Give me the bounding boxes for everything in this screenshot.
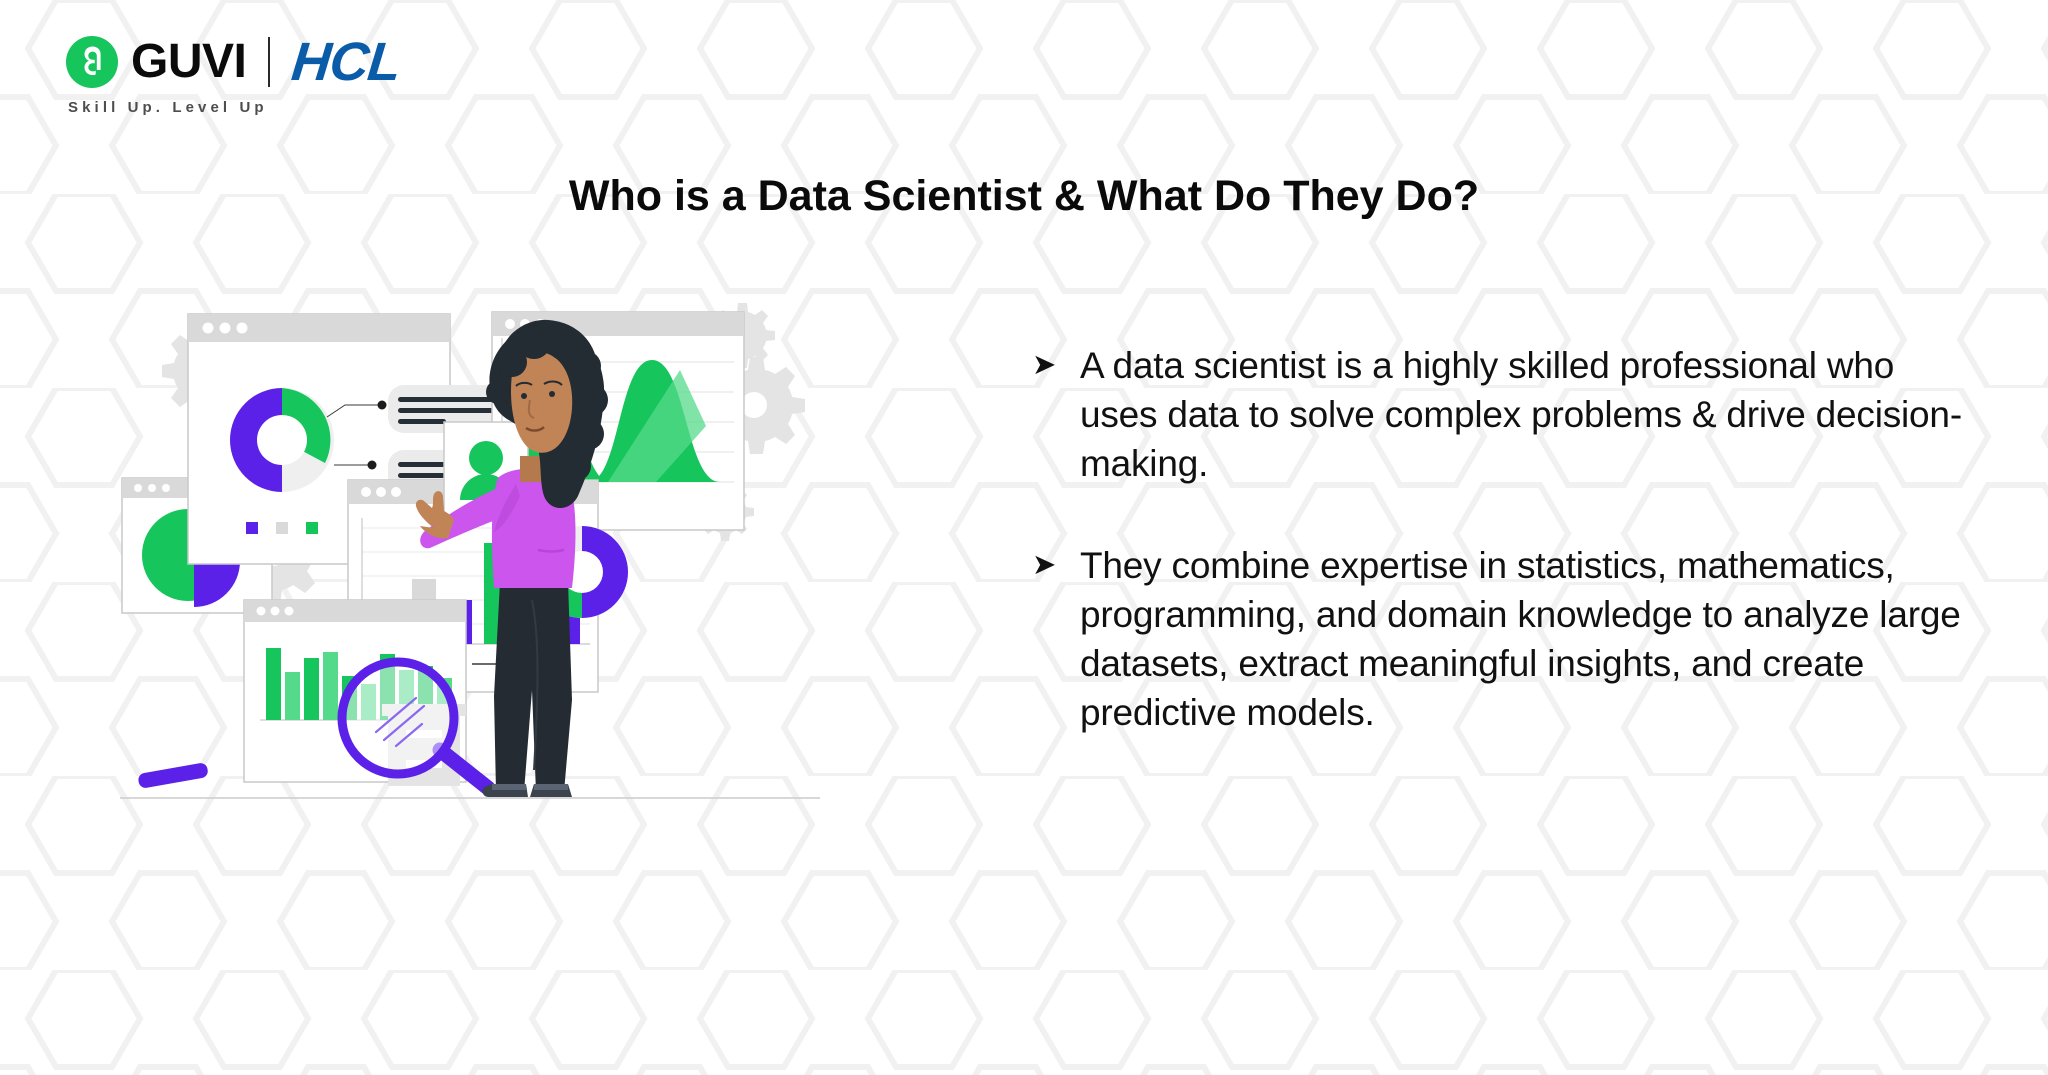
list-item: ➤ They combine expertise in statistics, … [1032,541,1962,738]
character-pants [494,582,572,792]
slide-root: GUVI HCL Skill Up. Level Up Who is a Dat… [0,0,2048,1075]
arrow-bullet-icon: ➤ [1032,551,1058,738]
bullet-list: ➤ A data scientist is a highly skilled p… [1032,341,1962,737]
brand-tagline: Skill Up. Level Up [68,99,400,116]
illustration-svg [120,300,940,900]
brand-lockup: GUVI HCL Skill Up. Level Up [66,35,400,116]
data-scientist-illustration [120,300,940,900]
legend-swatch [246,522,258,534]
guvi-lockup: GUVI [66,36,246,88]
arrow-bullet-icon: ➤ [1032,351,1058,489]
brand-row: GUVI HCL [66,35,400,89]
guvi-wordmark: GUVI [131,38,246,86]
brand-divider [268,37,270,87]
decorative-bar [137,762,209,789]
hcl-wordmark: HCL [290,35,404,89]
guvi-g-mark-icon [66,36,118,88]
bullet-text: A data scientist is a highly skilled pro… [1080,341,1962,489]
legend-swatch [276,522,288,534]
leader-dot [368,461,377,470]
leader-dot [378,401,387,410]
donut-chart [230,388,334,492]
bullet-text: They combine expertise in statistics, ma… [1080,541,1962,738]
user-icon [469,441,503,475]
list-item: ➤ A data scientist is a highly skilled p… [1032,341,1962,489]
legend-swatch [306,522,318,534]
page-title: Who is a Data Scientist & What Do They D… [0,172,2048,221]
